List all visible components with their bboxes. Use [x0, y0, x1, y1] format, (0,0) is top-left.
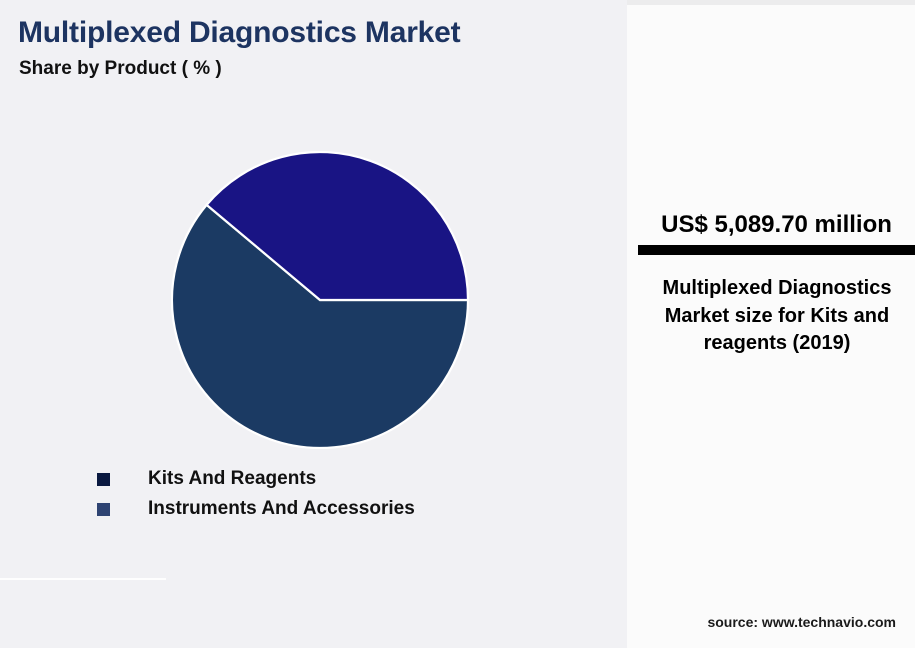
- legend-label: Instruments And Accessories: [148, 498, 415, 520]
- source-note: source: www.technavio.com: [638, 614, 896, 630]
- callout-description: Multiplexed Diagnostics Market size for …: [651, 275, 903, 358]
- chart-legend: Kits And Reagents Instruments And Access…: [97, 464, 415, 524]
- legend-swatch-icon: [97, 473, 110, 486]
- callout-value: US$ 5,089.70 million: [638, 211, 915, 239]
- divider: [0, 578, 166, 580]
- legend-item-instruments-and-accessories: Instruments And Accessories: [97, 494, 415, 524]
- chart-panel: Multiplexed Diagnostics Market Share by …: [0, 0, 627, 648]
- callout-underline: [638, 245, 915, 255]
- legend-label: Kits And Reagents: [148, 468, 316, 490]
- panel-top-edge: [627, 0, 915, 5]
- page-title: Multiplexed Diagnostics Market: [18, 16, 460, 50]
- pie-chart: [171, 151, 469, 449]
- legend-item-kits-and-reagents: Kits And Reagents: [97, 464, 415, 494]
- infographic-root: Multiplexed Diagnostics Market Share by …: [0, 0, 915, 648]
- legend-swatch-icon: [97, 503, 110, 516]
- pie-chart-svg: [171, 151, 469, 449]
- chart-subtitle: Share by Product ( % ): [19, 58, 222, 80]
